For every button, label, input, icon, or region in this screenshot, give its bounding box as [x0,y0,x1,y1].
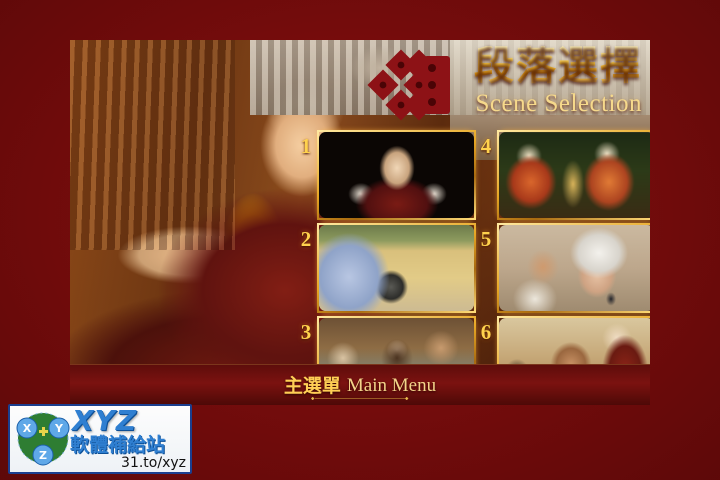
svg-text:X: X [23,422,32,435]
main-menu-underline [262,397,458,400]
menu-footer-bar: 主選單Main Menu [70,364,650,405]
menu-title-cn: 段落選擇 [474,46,642,86]
scene-1-thumbnail[interactable] [317,130,476,220]
scene-6-number: 6 [477,320,495,345]
svg-text:Z: Z [39,449,47,462]
main-menu-button[interactable]: 主選單Main Menu [70,371,650,398]
scene-3-number: 3 [297,320,315,345]
menu-title-en: Scene Selection [476,90,642,118]
menu-video-pane: 段落選擇 Scene Selection 1 2 3 [70,40,650,405]
dvd-menu-screen: 段落選擇 Scene Selection 1 2 3 [0,0,720,480]
scene-5-number: 5 [477,227,495,252]
scene-1-number: 1 [297,134,315,159]
scene-2-thumbnail[interactable] [317,223,476,313]
scene-2-thumbnail-image [319,225,474,311]
endless-knot-icon [364,48,454,122]
scene-1[interactable]: 1 [295,130,475,220]
main-menu-label-cn: 主選單 [284,375,341,397]
scene-4-thumbnail[interactable] [497,130,650,220]
menu-header: 段落選擇 Scene Selection [370,40,650,132]
scene-1-thumbnail-image [319,132,474,218]
watermark-badge: X Y Z XYZ 軟體補給站 31.to/xyz [8,404,192,474]
scene-2-number: 2 [297,227,315,252]
watermark-url: 31.to/xyz [121,455,186,471]
scene-5[interactable]: 5 [475,223,650,313]
xyz-logo-icon: X Y Z [14,410,72,466]
scene-2[interactable]: 2 [295,223,475,313]
scene-4[interactable]: 4 [475,130,650,220]
watermark-brand-cn: 軟體補給站 [70,430,165,457]
scene-5-thumbnail[interactable] [497,223,650,313]
main-menu-label-en: Main Menu [347,375,436,396]
scene-4-number: 4 [477,134,495,159]
svg-text:Y: Y [54,422,64,435]
scene-4-thumbnail-image [499,132,650,218]
scene-5-thumbnail-image [499,225,650,311]
background-woodwork [70,40,235,250]
